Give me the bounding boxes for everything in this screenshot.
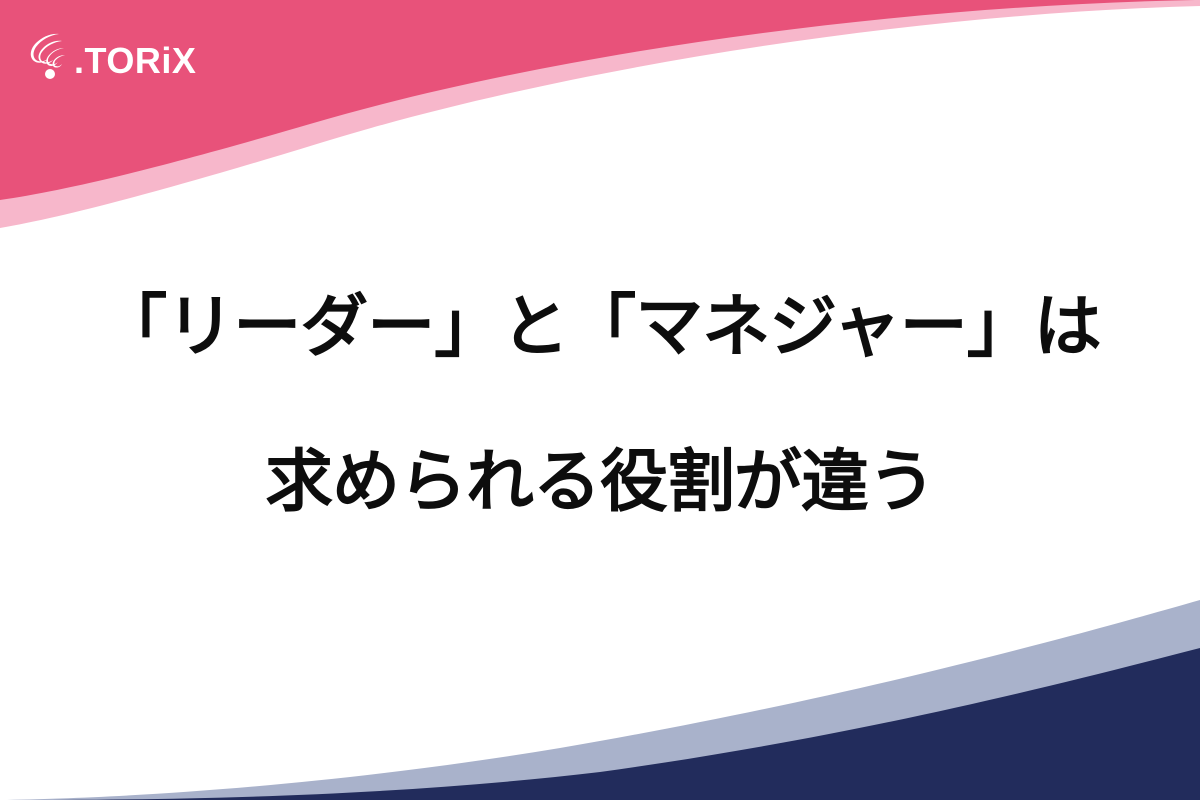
brand-wordmark: .TORiX	[74, 43, 196, 79]
headline-line-2: 求められる役割が違う	[0, 405, 1200, 560]
slide-canvas: .TORiX 「リーダー」と「マネジャー」は 求められる役割が違う	[0, 0, 1200, 800]
headline-line-1: 「リーダー」と「マネジャー」は	[0, 250, 1200, 405]
headline-block: 「リーダー」と「マネジャー」は 求められる役割が違う	[0, 250, 1200, 560]
torix-swirl-mark-icon	[26, 30, 76, 82]
brand-logo: .TORiX	[26, 30, 196, 82]
